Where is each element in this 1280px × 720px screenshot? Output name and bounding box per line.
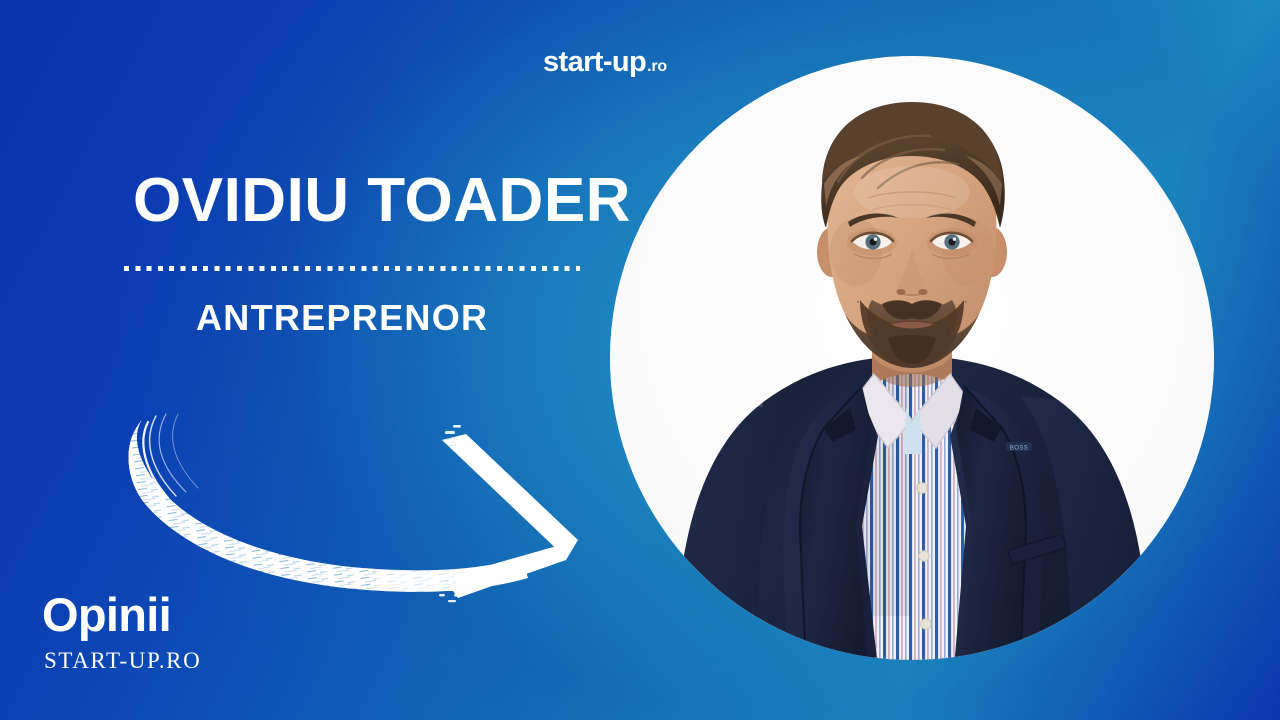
opinii-url: START-UP.RO bbox=[44, 649, 201, 672]
brand-tld: .ro bbox=[647, 59, 667, 75]
opinii-logo[interactable]: Opinii START-UP.RO bbox=[42, 591, 201, 672]
avatar: BOSS bbox=[610, 56, 1214, 660]
opinii-title: Opinii bbox=[42, 591, 201, 638]
brand-word: start-up bbox=[543, 48, 646, 77]
dotted-divider bbox=[124, 266, 580, 271]
social-card: start-up .ro OVIDIU TOADER ANTREPRENOR bbox=[0, 0, 1280, 720]
svg-text:BOSS: BOSS bbox=[1010, 446, 1028, 452]
person-name: OVIDIU TOADER bbox=[133, 170, 631, 232]
startup-ro-logo[interactable]: start-up .ro bbox=[543, 48, 667, 77]
brush-arrow-right-icon bbox=[126, 412, 596, 612]
person-role: ANTREPRENOR bbox=[196, 300, 488, 336]
